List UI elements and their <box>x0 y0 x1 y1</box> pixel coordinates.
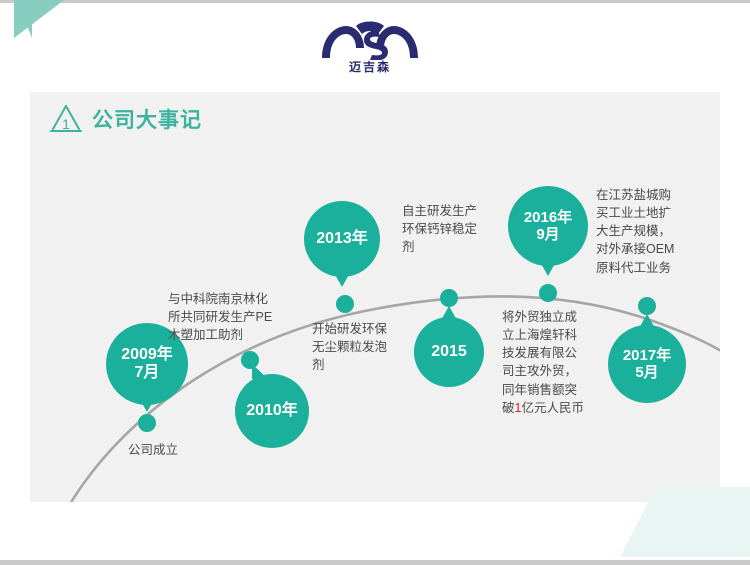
milestone-bubble-2017-05[interactable]: 2017年 5月 <box>608 325 686 403</box>
milestone-bubble-2013[interactable]: 2013年 <box>304 201 380 277</box>
company-logo: 迈吉森 <box>300 18 440 80</box>
milestone-caption-2017-05: 在江苏盐城购 买工业土地扩 大生产规模， 对外承接OEM 原料代工业务 <box>596 186 696 277</box>
logo-text: 迈吉森 <box>300 58 440 75</box>
milestone-dot-2009-07[interactable] <box>138 414 156 432</box>
milestone-tail-2016-09 <box>539 260 557 276</box>
milestone-bubble-2010[interactable]: 2010年 <box>235 374 309 448</box>
milestone-dot-2017-05[interactable] <box>638 297 656 315</box>
milestone-dot-2016-09[interactable] <box>539 284 557 302</box>
milestone-tail-2013 <box>333 271 351 287</box>
milestone-bubble-text-2009-07: 2009年 7月 <box>121 346 173 383</box>
content-panel: 1 公司大事记 2009年 7月 公司成立 与中科院南京林化 所共同研发生产PE… <box>30 92 720 502</box>
corner-decoration-top-left <box>0 0 120 60</box>
milestone-caption-2016-09-tail: 亿元人民币 <box>521 401 584 415</box>
logo-mark-icon <box>318 18 422 60</box>
milestone-dot-2015[interactable] <box>440 289 458 307</box>
milestone-caption-2013: 开始研发环保 无尘颗粒发泡 剂 <box>312 320 404 374</box>
milestone-tail-2009-07 <box>138 396 156 412</box>
milestone-bubble-text-2017-05: 2017年 5月 <box>623 347 671 382</box>
milestone-bubble-2015[interactable]: 2015 <box>414 317 484 387</box>
milestone-bubble-text-2015: 2015 <box>431 343 467 361</box>
milestone-caption-2015: 自主研发生产 环保钙锌稳定 剂 <box>402 202 494 256</box>
milestone-bubble-2016-09[interactable]: 2016年 9月 <box>508 186 588 266</box>
timeline-chart: 2009年 7月 公司成立 与中科院南京林化 所共同研发生产PE 木塑加工助剂 … <box>30 92 720 502</box>
bottom-divider <box>0 560 750 565</box>
milestone-caption-2016-09-main: 将外贸独立成 立上海煌轩科 技发展有限公 司主攻外贸， 同年销售额突 破 <box>502 310 577 415</box>
milestone-bubble-text-2016-09: 2016年 9月 <box>524 209 572 244</box>
milestone-caption-2010: 与中科院南京林化 所共同研发生产PE 木塑加工助剂 <box>168 290 298 344</box>
milestone-bubble-text-2010: 2010年 <box>246 402 298 420</box>
milestone-bubble-text-2013: 2013年 <box>316 230 368 248</box>
slide-canvas: 迈吉森 1 公司大事记 2009年 7月 <box>0 0 750 565</box>
milestone-label-2009-07: 公司成立 <box>128 439 178 458</box>
milestone-dot-2013[interactable] <box>336 295 354 313</box>
milestone-caption-2016-09: 将外贸独立成 立上海煌轩科 技发展有限公 司主攻外贸， 同年销售额突 破1亿元人… <box>502 308 598 417</box>
